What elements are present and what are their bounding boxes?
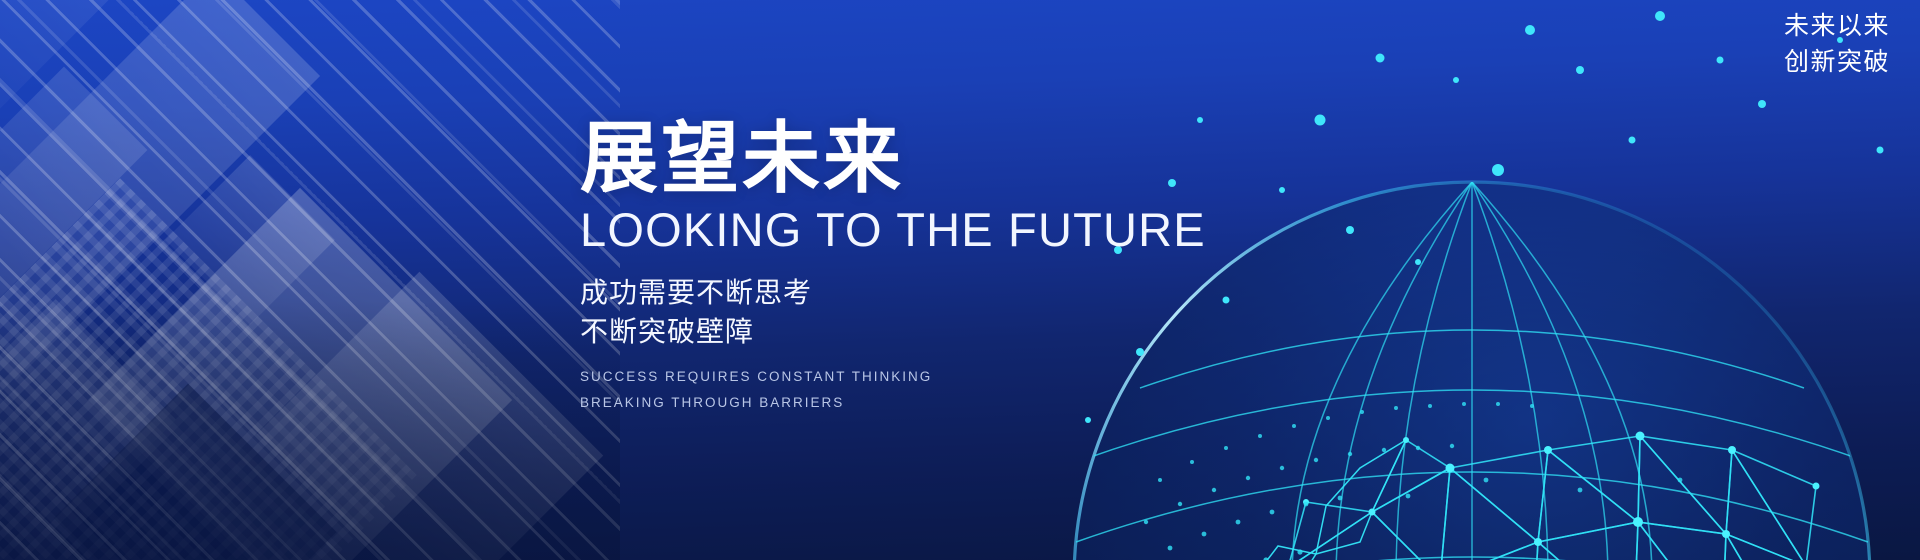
decor-panel <box>0 67 147 384</box>
banner-text-block: 展望未来 LOOKING TO THE FUTURE 成功需要不断思考 不断突破… <box>580 118 1220 417</box>
tagline-line-2: 创新突破 <box>1784 44 1890 80</box>
decor-panel <box>88 188 512 560</box>
subtitle-english-line-2: BREAKING THROUGH BARRIERS <box>580 390 1220 416</box>
subtitle-chinese: 成功需要不断思考 不断突破壁障 <box>580 273 1220 353</box>
checkered-dot-grid <box>0 178 417 560</box>
decor-panel <box>0 0 159 134</box>
subtitle-chinese-line-1: 成功需要不断思考 <box>580 273 1220 313</box>
tagline-line-1: 未来以来 <box>1784 8 1890 44</box>
diagonal-stripe-pattern-secondary <box>0 0 620 560</box>
decor-panel-dark <box>54 384 337 560</box>
headline-english: LOOKING TO THE FUTURE <box>580 204 1220 257</box>
subtitle-english: SUCCESS REQUIRES CONSTANT THINKING BREAK… <box>580 364 1220 417</box>
subtitle-english-line-1: SUCCESS REQUIRES CONSTANT THINKING <box>580 364 1220 390</box>
decor-panel <box>0 0 320 380</box>
decor-panel <box>165 155 335 325</box>
headline-chinese: 展望未来 <box>580 118 1220 200</box>
decor-panel <box>257 272 603 560</box>
subtitle-chinese-line-2: 不断突破壁障 <box>580 312 1220 352</box>
left-geometric-decoration <box>0 0 620 560</box>
bottom-shadow-overlay <box>0 300 620 560</box>
decor-panel <box>0 299 176 560</box>
diagonal-stripe-pattern <box>0 0 620 560</box>
corner-tagline: 未来以来 创新突破 <box>1784 8 1890 81</box>
promo-banner: 未来以来 创新突破 展望未来 LOOKING TO THE FUTURE 成功需… <box>0 0 1920 560</box>
